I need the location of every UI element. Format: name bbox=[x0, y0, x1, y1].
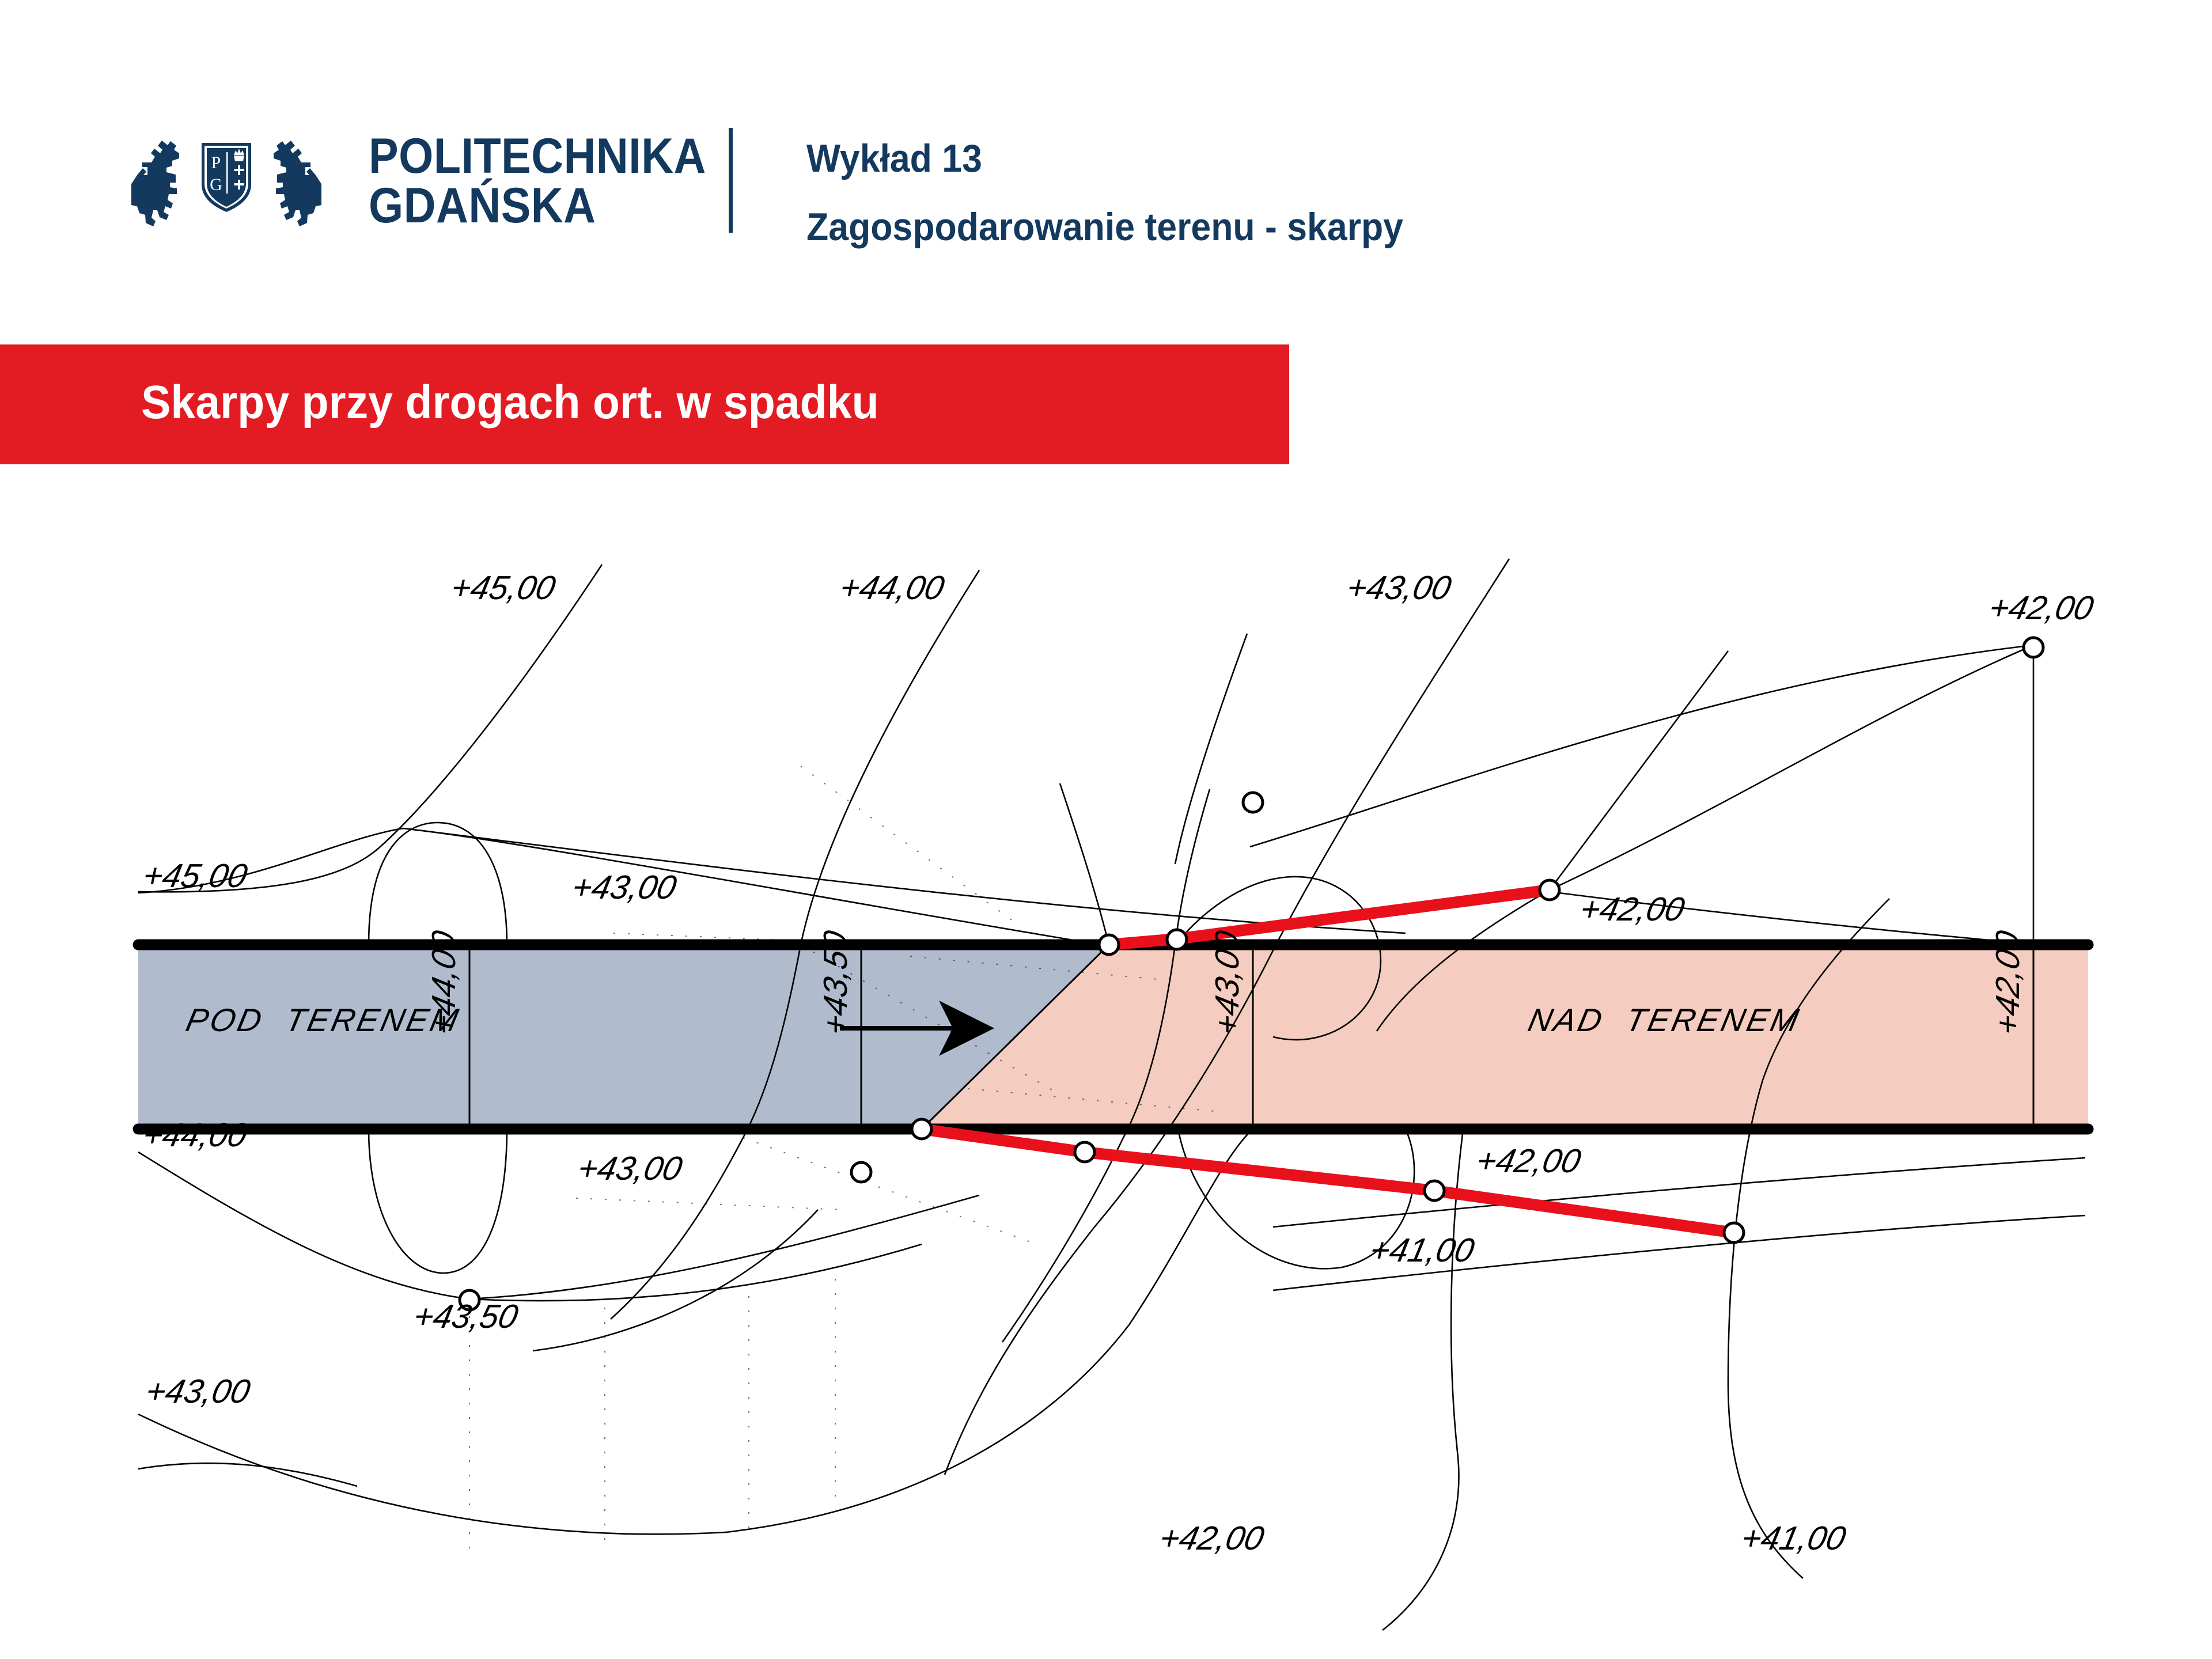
contour-label: +44,00 bbox=[836, 570, 948, 607]
above-grade-label: NAD TERENEM bbox=[1525, 1002, 1804, 1038]
contour-label: +45,00 bbox=[448, 570, 559, 607]
slope-diagram: +44,00 +43,50 +43,00 +42,00 POD TERENEM … bbox=[0, 495, 2212, 1659]
pg-coat-of-arms-icon: P G bbox=[131, 122, 321, 232]
lecture-number: Wykład 13 bbox=[806, 138, 1403, 179]
below-grade-label: POD TERENEM bbox=[183, 1002, 463, 1038]
road-elev-label: +42,00 bbox=[1990, 927, 2027, 1039]
contour-label: +43,00 bbox=[574, 1150, 685, 1187]
lecture-title: Zagospodarowanie terenu - skarpy bbox=[806, 207, 1403, 248]
contour-label: +45,00 bbox=[139, 858, 251, 895]
contour-label: +42,00 bbox=[1577, 891, 1688, 928]
road-elev-label: +43,00 bbox=[1209, 927, 1246, 1039]
above-grade-region bbox=[922, 945, 2088, 1129]
contour-label: +43,00 bbox=[569, 869, 680, 906]
shield-letter-g: G bbox=[210, 175, 222, 194]
lower-skarpa-red-line bbox=[922, 1129, 1734, 1233]
contour-label: +43,00 bbox=[1343, 570, 1455, 607]
university-name-line2: GDAŃSKA bbox=[369, 181, 706, 230]
road-elev-label: +43,50 bbox=[817, 927, 854, 1039]
contour-label: +43,50 bbox=[410, 1298, 521, 1335]
contour-label: +42,00 bbox=[1986, 590, 2097, 627]
contour-label: +41,00 bbox=[1366, 1232, 1478, 1269]
contour-label: +44,00 bbox=[139, 1117, 251, 1154]
contour-label: +41,00 bbox=[1738, 1520, 1849, 1557]
vertical-divider-icon bbox=[729, 128, 733, 233]
shield-letter-p: P bbox=[211, 153, 221, 172]
university-name: POLITECHNIKA GDAŃSKA bbox=[369, 131, 706, 230]
contour-label: +42,00 bbox=[1473, 1143, 1584, 1180]
university-name-line1: POLITECHNIKA bbox=[369, 131, 706, 181]
contour-label: +43,00 bbox=[142, 1373, 253, 1410]
lecture-info: Wykład 13 Zagospodarowanie terenu - skar… bbox=[806, 138, 1403, 248]
page-header: P G POLITECHNIKA GDAŃSKA Wykład 13 Zagos… bbox=[0, 0, 2212, 323]
section-banner-title: Skarpy przy drogach ort. w spadku bbox=[141, 376, 879, 430]
contour-label: +42,00 bbox=[1156, 1520, 1267, 1557]
